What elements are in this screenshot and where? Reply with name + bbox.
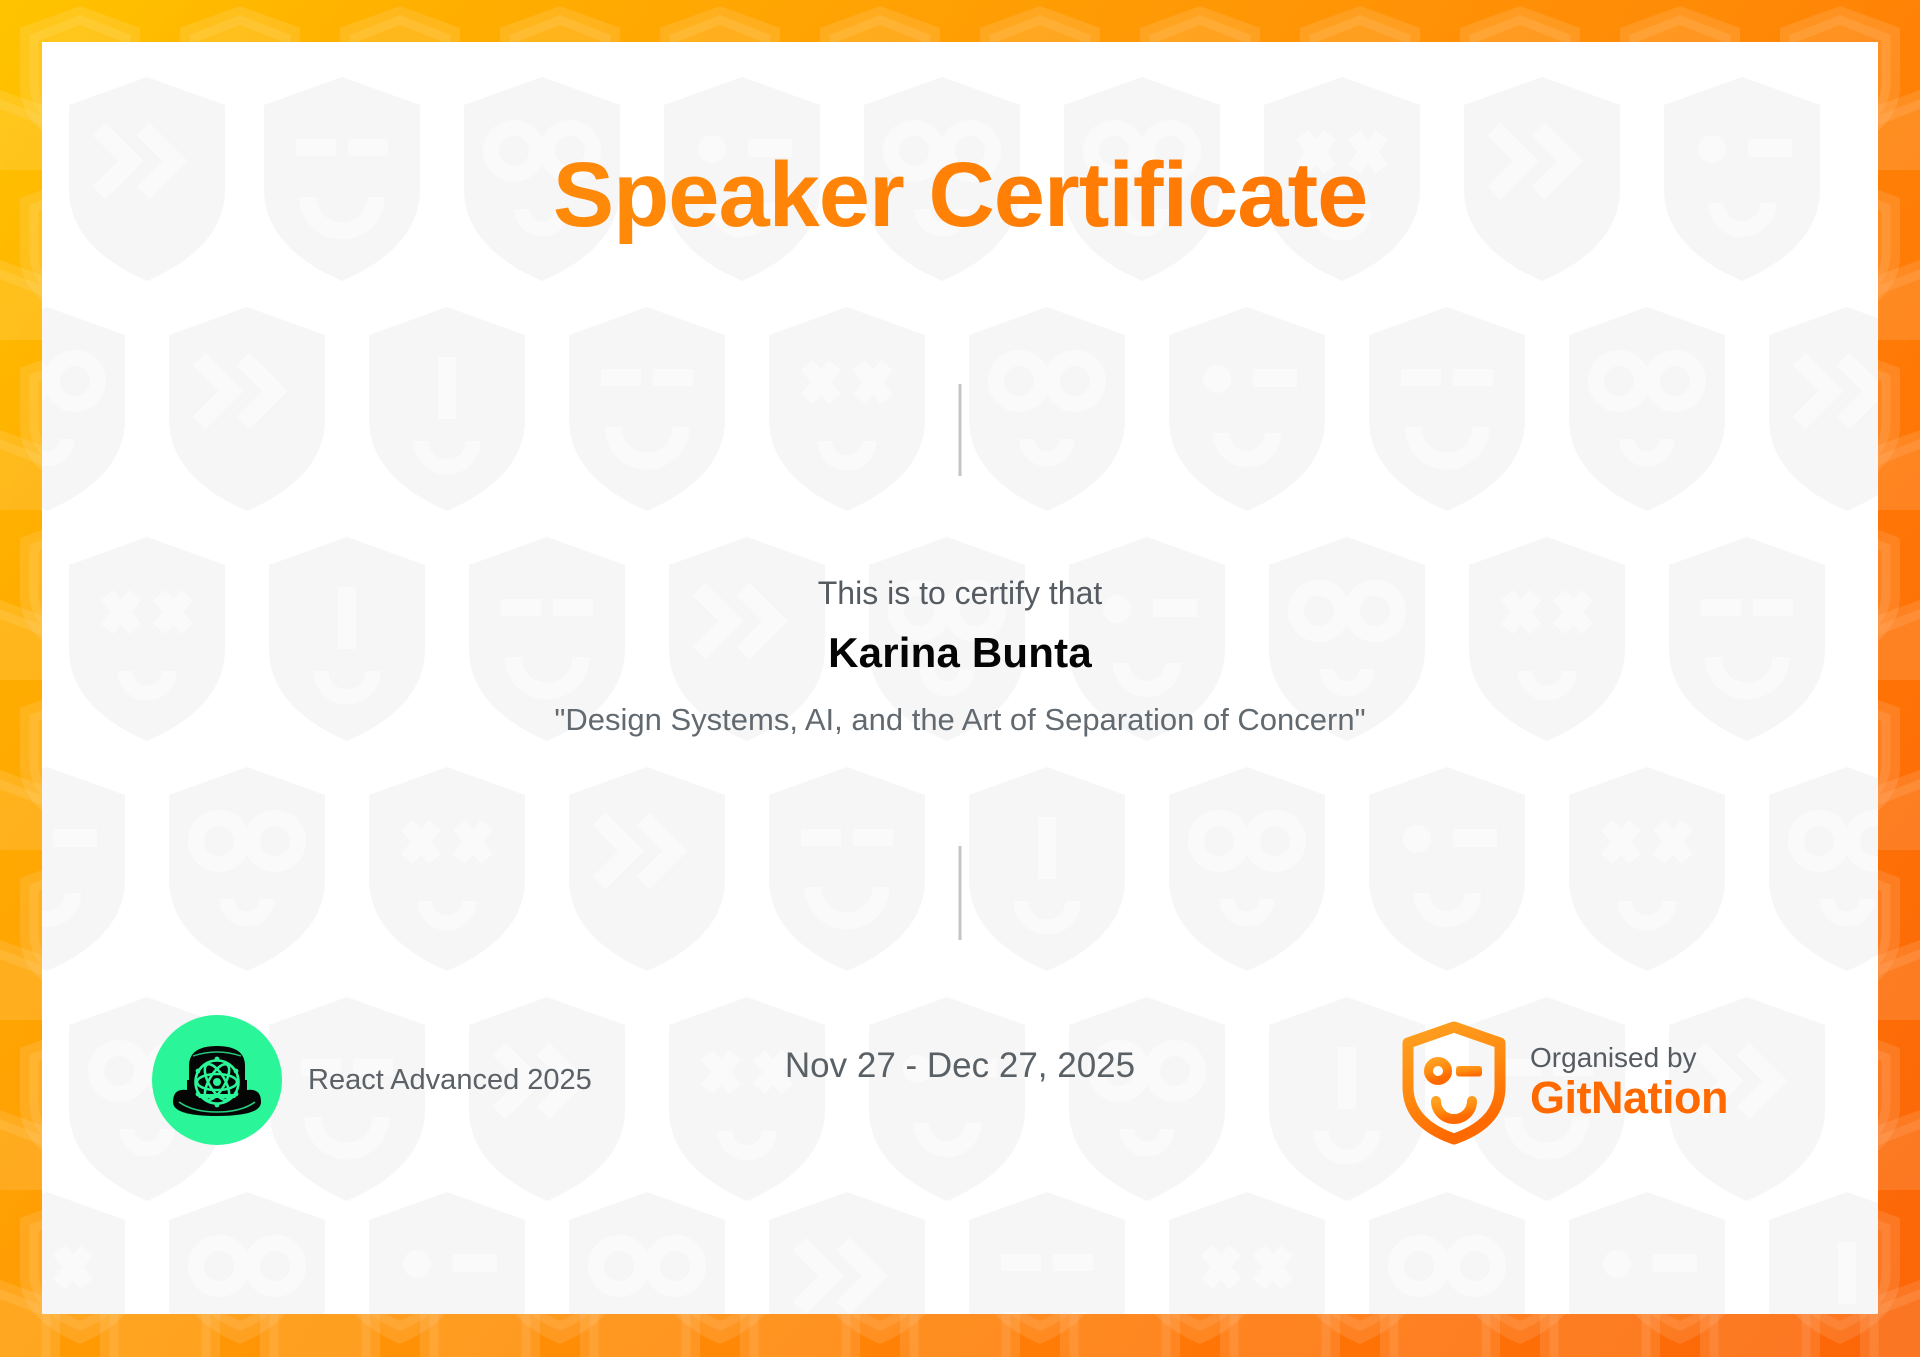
- recipient-name: Karina Bunta: [42, 629, 1878, 677]
- certificate-paper: Speaker Certificate This is to certify t…: [42, 42, 1878, 1314]
- divider-bottom: [959, 846, 962, 940]
- organised-by-label: Organised by: [1530, 1042, 1728, 1073]
- certificate-content: Speaker Certificate This is to certify t…: [42, 42, 1878, 1314]
- certificate-footer: React Advanced 2025 Nov 27 - Dec 27, 202…: [42, 1010, 1878, 1190]
- organiser-block: Organised by GitNation: [1398, 1018, 1728, 1148]
- page-title: Speaker Certificate: [42, 147, 1878, 244]
- certify-line: This is to certify that: [42, 575, 1878, 612]
- certificate-frame: Speaker Certificate This is to certify t…: [0, 0, 1920, 1357]
- organiser-text: Organised by GitNation: [1530, 1042, 1728, 1124]
- gitnation-shield-face-icon: [1398, 1021, 1510, 1145]
- talk-title: "Design Systems, AI, and the Art of Sepa…: [42, 702, 1878, 738]
- divider-top: [959, 384, 962, 476]
- organiser-name: GitNation: [1530, 1073, 1728, 1123]
